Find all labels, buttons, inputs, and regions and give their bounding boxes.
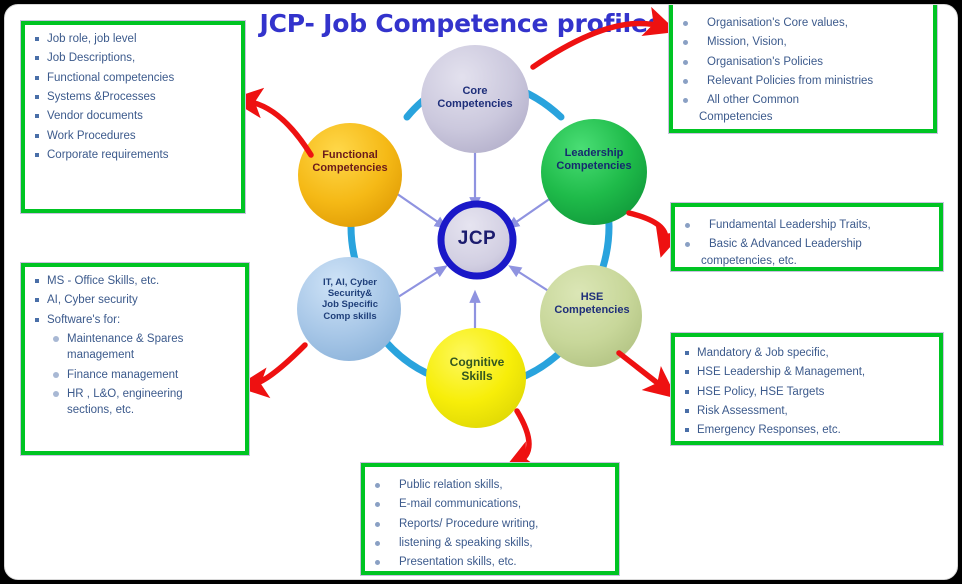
list-item: AI, Cyber security [29, 292, 239, 308]
list-item: Presentation skills, etc. [369, 554, 609, 570]
arrow-to-core-box [533, 23, 663, 67]
circle-cognitive-skills [426, 328, 526, 428]
list-functional: Job role, job level Job Descriptions, Fu… [29, 31, 235, 163]
list-item: Relevant Policies from ministries [677, 73, 927, 89]
list-item: MS - Office Skills, etc. [29, 273, 239, 289]
center-node [441, 204, 513, 276]
list-item: Vendor documents [29, 108, 235, 124]
arrow-to-hse-box [619, 353, 665, 389]
list-item: Risk Assessment, [679, 403, 933, 419]
arrow-to-it-box [251, 345, 305, 385]
list-item: All other Common [677, 92, 927, 108]
list-leadership: Fundamental Leadership Traits, Basic & A… [679, 217, 933, 269]
callout-box-leadership: Fundamental Leadership Traits, Basic & A… [671, 203, 943, 271]
list-core: Organisation's Core values, Mission, Vis… [677, 15, 927, 125]
list-item: Fundamental Leadership Traits, [679, 217, 933, 233]
list-item: HSE Leadership & Management, [679, 364, 933, 380]
callout-box-cognitive: Public relation skills, E-mail communica… [361, 463, 619, 575]
list-item-continuation: competencies, etc. [679, 253, 933, 269]
list-item: Job Descriptions, [29, 50, 235, 66]
list-item: Organisation's Core values, [677, 15, 927, 31]
list-hse: Mandatory & Job specific, HSE Leadership… [679, 345, 933, 439]
list-item: Software's for: [29, 312, 239, 328]
list-item: Organisation's Policies [677, 54, 927, 70]
arrow-to-cognitive-box [517, 411, 529, 463]
circle-core-competencies [421, 45, 529, 153]
callout-box-core: Organisation's Core values, Mission, Vis… [669, 4, 937, 133]
list-item: Mission, Vision, [677, 34, 927, 50]
list-subitem: HR , L&O, engineering [29, 386, 239, 402]
list-item: E-mail communications, [369, 496, 609, 512]
circle-functional-competencies [298, 123, 402, 227]
list-subitem-continuation: sections, etc. [29, 402, 239, 418]
diagram-canvas: JCP- Job Competence profiles [4, 4, 958, 580]
callout-box-hse: Mandatory & Job specific, HSE Leadership… [671, 333, 943, 445]
circle-hse-competencies [540, 265, 642, 367]
callout-box-it: MS - Office Skills, etc. AI, Cyber secur… [21, 263, 249, 455]
list-item: Basic & Advanced Leadership [679, 236, 933, 252]
list-item: Mandatory & Job specific, [679, 345, 933, 361]
circle-leadership-competencies [541, 119, 647, 225]
list-item-continuation: Competencies [677, 109, 927, 125]
list-subitem-continuation: management [29, 347, 239, 363]
list-item: Systems &Processes [29, 89, 235, 105]
list-cognitive: Public relation skills, E-mail communica… [369, 477, 609, 571]
list-item: Public relation skills, [369, 477, 609, 493]
arrow-to-leadership-box [629, 213, 666, 243]
list-item: Functional competencies [29, 70, 235, 86]
list-item: listening & speaking skills, [369, 535, 609, 551]
circle-it-ai-cyber [297, 257, 401, 361]
list-item: Emergency Responses, etc. [679, 422, 933, 438]
callout-box-functional: Job role, job level Job Descriptions, Fu… [21, 21, 245, 213]
arrow-to-functional-box [245, 101, 311, 155]
list-item: Reports/ Procedure writing, [369, 516, 609, 532]
list-item: Corporate requirements [29, 147, 235, 163]
list-item: HSE Policy, HSE Targets [679, 384, 933, 400]
list-item: Job role, job level [29, 31, 235, 47]
list-item: Work Procedures [29, 128, 235, 144]
list-subitem: Finance management [29, 367, 239, 383]
list-subitem: Maintenance & Spares [29, 331, 239, 347]
list-it: MS - Office Skills, etc. AI, Cyber secur… [29, 273, 239, 419]
